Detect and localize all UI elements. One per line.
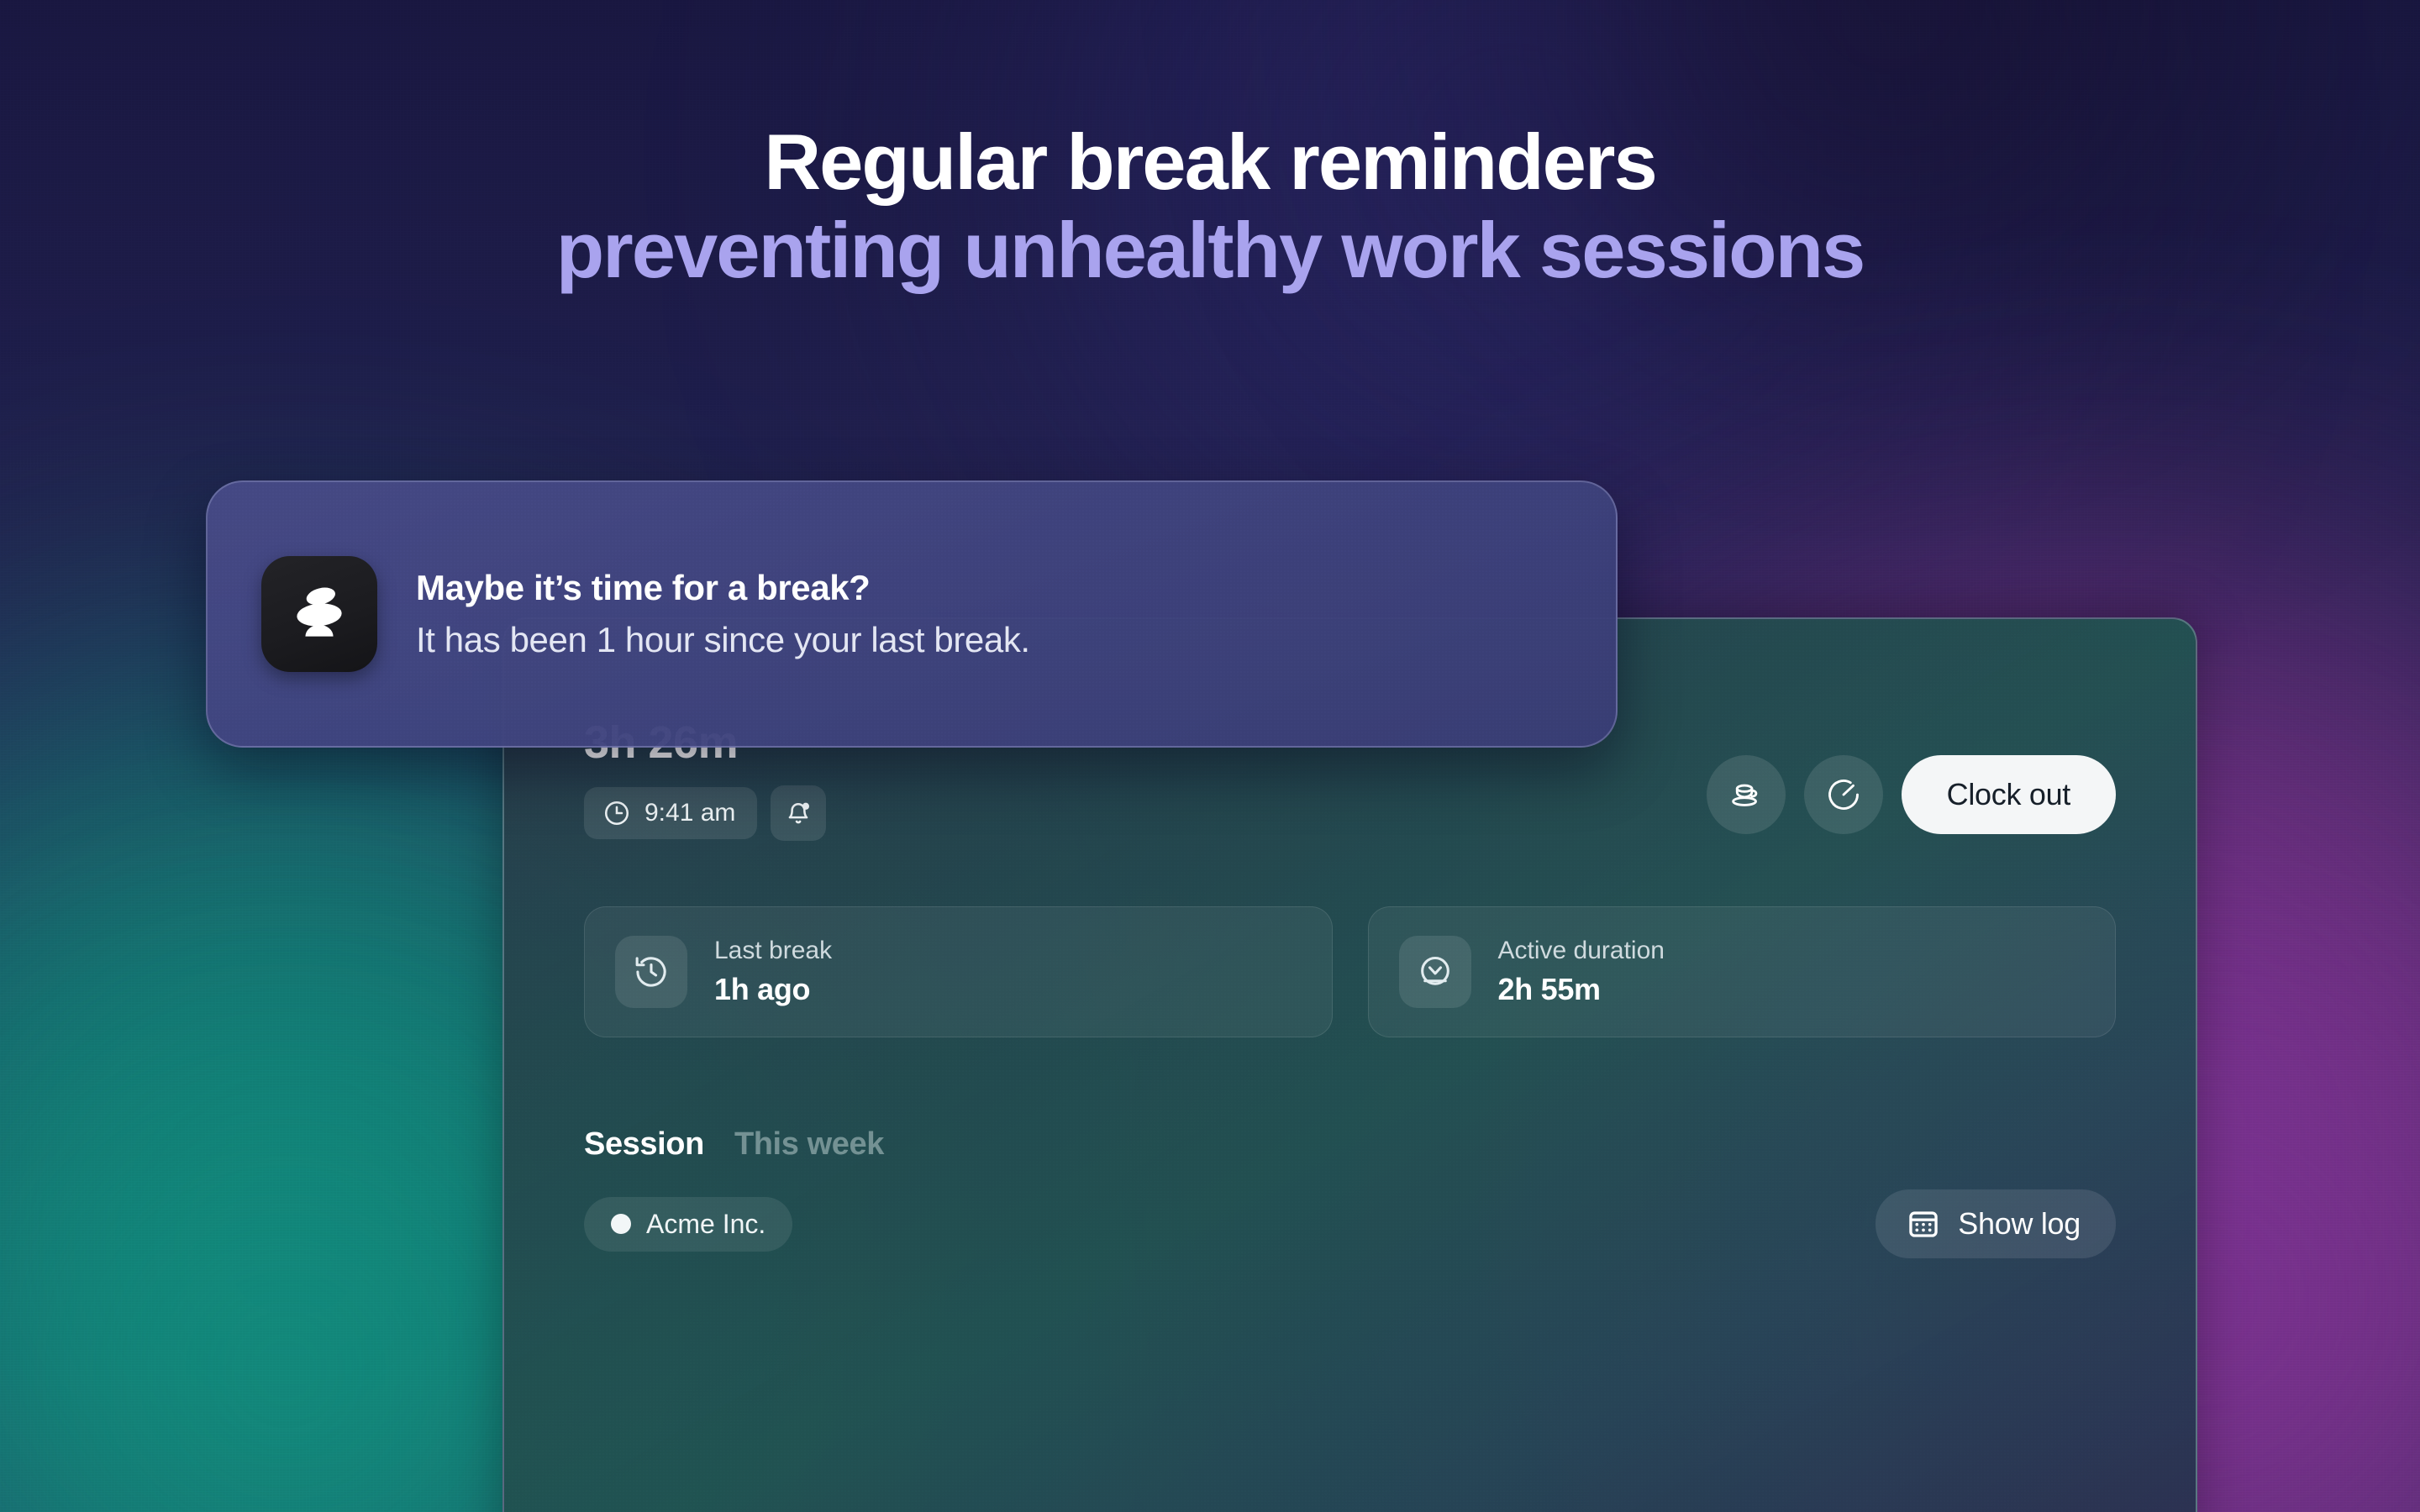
clock-out-button[interactable]: Clock out — [1902, 755, 2116, 834]
stat-value: 2h 55m — [1498, 972, 1665, 1007]
stat-label: Last break — [714, 937, 832, 965]
break-reminder-notification[interactable]: Maybe it’s time for a break? It has been… — [206, 480, 1618, 748]
stat-card-last-break[interactable]: Last break 1h ago — [584, 906, 1333, 1037]
bell-notification-icon — [784, 799, 813, 827]
clock-in-time-pill[interactable]: 9:41 am — [584, 787, 757, 839]
bell-notification-button[interactable] — [771, 785, 826, 841]
timer-icon — [1824, 775, 1863, 814]
stat-value: 1h ago — [714, 972, 832, 1007]
notification-body: It has been 1 hour since your last break… — [416, 620, 1030, 660]
stat-label: Active duration — [1498, 937, 1665, 965]
history-clock-icon — [615, 936, 687, 1008]
stat-card-list: Last break 1h ago Active duration 2h 55m — [584, 906, 2116, 1037]
notification-title: Maybe it’s time for a break? — [416, 568, 1030, 608]
client-chip-label: Acme Inc. — [646, 1209, 765, 1240]
calendar-grid-icon — [1906, 1206, 1941, 1242]
take-break-button[interactable] — [1707, 755, 1786, 834]
clock-in-time-value: 9:41 am — [644, 799, 735, 827]
session-tabs: Session This week — [584, 1126, 2116, 1163]
client-status-dot — [611, 1214, 631, 1234]
clock-icon — [602, 799, 631, 827]
show-log-button[interactable]: Show log — [1875, 1189, 2116, 1258]
headline-line-1: Regular break reminders — [50, 118, 2370, 206]
session-section: Session This week Acme Inc. — [584, 1126, 2116, 1258]
timer-button[interactable] — [1804, 755, 1883, 834]
tab-session[interactable]: Session — [584, 1126, 704, 1163]
app-window: 3h 26m 9:41 am — [502, 617, 2197, 1512]
clock-check-icon — [1399, 936, 1471, 1008]
show-log-label: Show log — [1958, 1206, 2081, 1242]
client-chip[interactable]: Acme Inc. — [584, 1197, 792, 1252]
stat-card-active-duration[interactable]: Active duration 2h 55m — [1368, 906, 2117, 1037]
headline-line-2: preventing unhealthy work sessions — [50, 206, 2370, 294]
coffee-cup-icon — [1727, 775, 1765, 814]
page-headline: Regular break reminders preventing unhea… — [0, 118, 2420, 295]
stacked-stones-icon — [261, 556, 377, 672]
tab-this-week[interactable]: This week — [734, 1126, 884, 1163]
